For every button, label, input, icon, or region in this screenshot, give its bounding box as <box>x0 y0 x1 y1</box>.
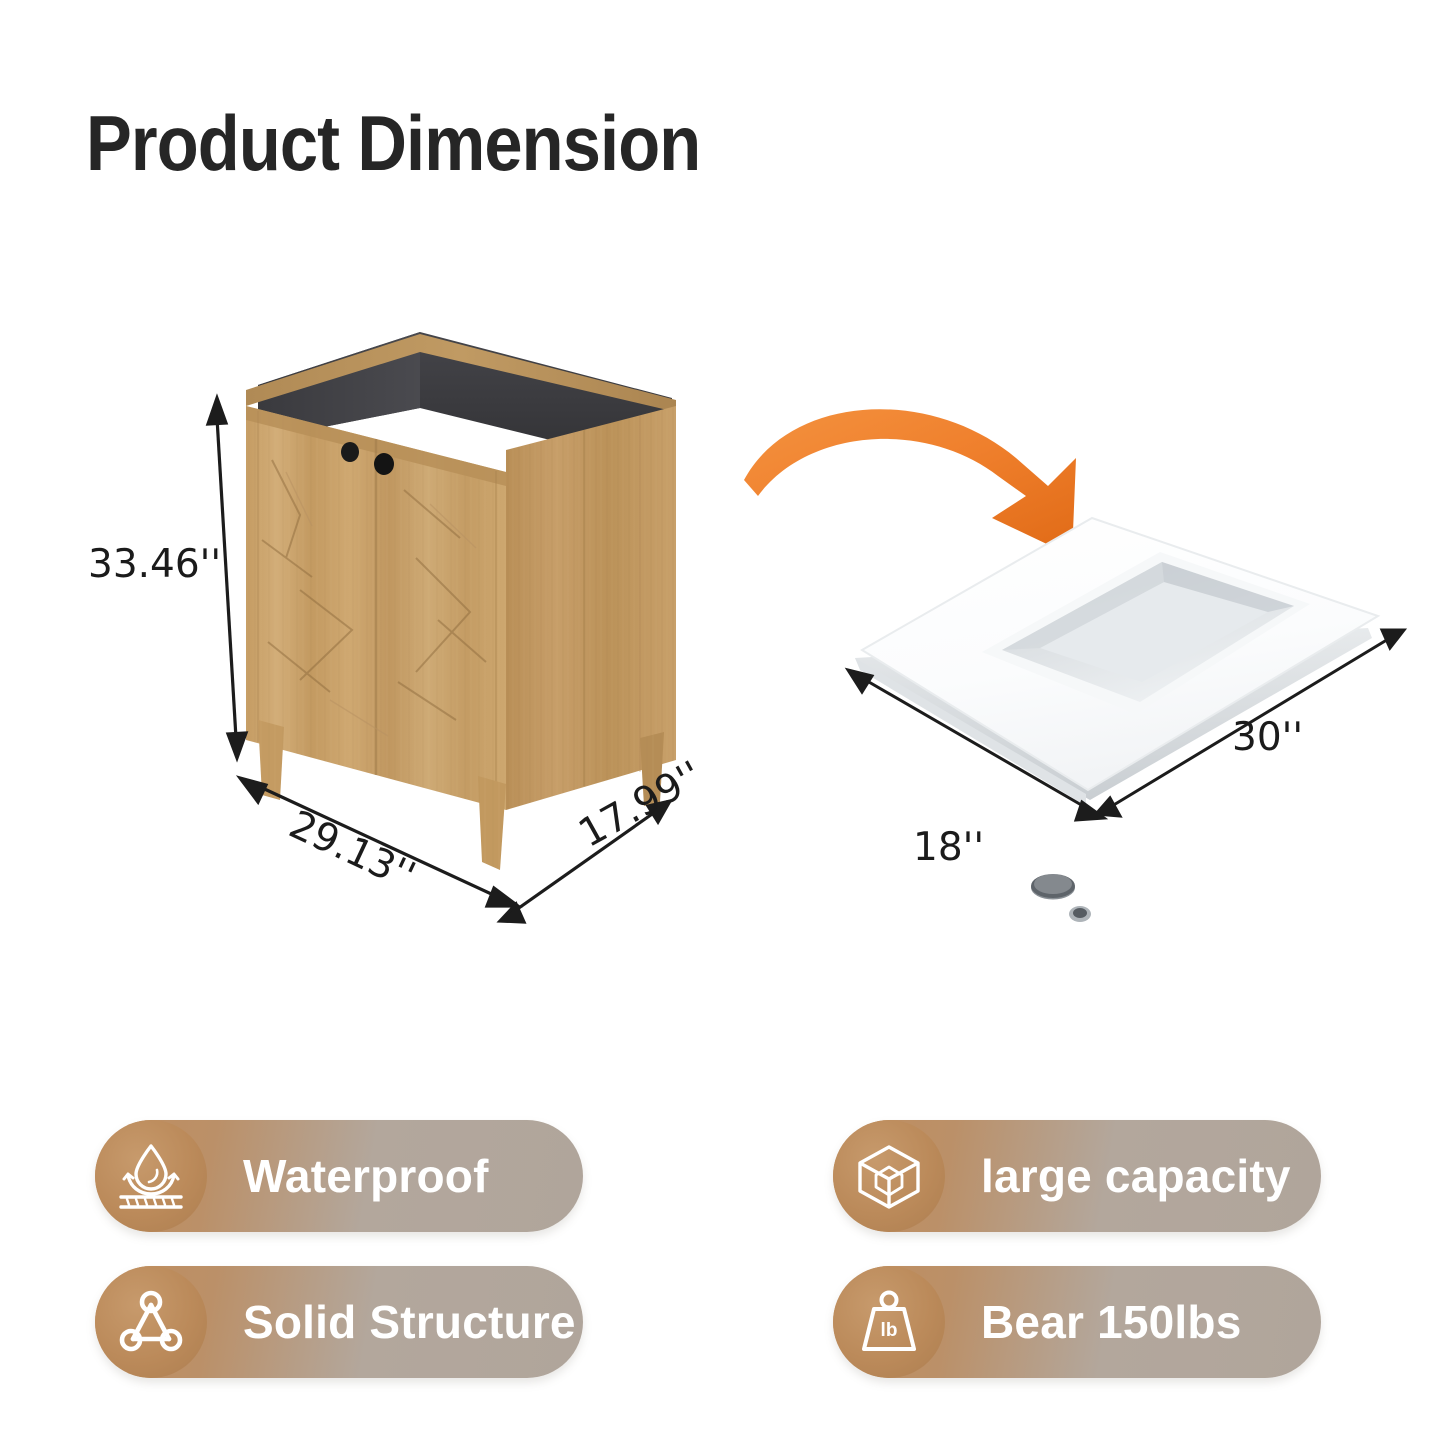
curved-orange-arrow <box>744 409 1076 556</box>
sink-width-label: 18'' <box>913 828 984 867</box>
water-drop-icon <box>95 1120 207 1232</box>
feature-label-solid-structure: Solid Structure <box>243 1295 576 1349</box>
feature-label-bear-weight: Bear 150lbs <box>981 1295 1241 1349</box>
sink-length-label: 30'' <box>1232 718 1303 757</box>
page-title: Product Dimension <box>86 104 700 182</box>
vanity-cabinet-illustration <box>246 332 676 870</box>
feature-badge-large-capacity[interactable]: large capacity <box>833 1120 1321 1232</box>
product-illustration <box>0 290 1445 950</box>
feature-label-large-capacity: large capacity <box>981 1149 1291 1203</box>
feature-badge-solid-structure[interactable]: Solid Structure <box>95 1266 583 1378</box>
weight-icon: lb <box>833 1266 945 1378</box>
cube-box-icon <box>833 1120 945 1232</box>
cabinet-knob-left <box>341 442 359 462</box>
triangle-nodes-icon <box>95 1266 207 1378</box>
weight-icon-unit: lb <box>881 1320 898 1341</box>
cabinet-knob-right <box>374 453 394 475</box>
feature-badge-waterproof[interactable]: Waterproof <box>95 1120 583 1232</box>
feature-badge-bear-weight[interactable]: lb Bear 150lbs <box>833 1266 1321 1378</box>
feature-label-waterproof: Waterproof <box>243 1149 489 1203</box>
cabinet-height-label: 33.46'' <box>88 545 221 584</box>
